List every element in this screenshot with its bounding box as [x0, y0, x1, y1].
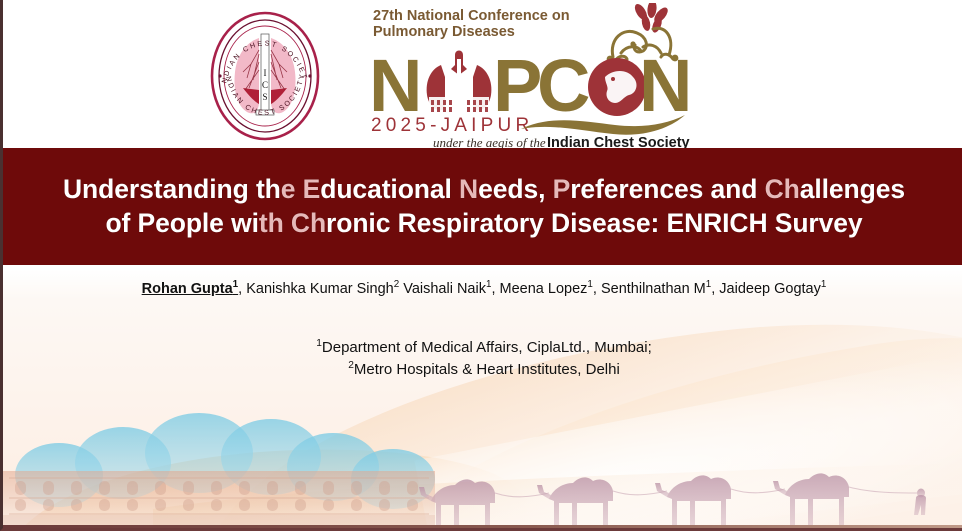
title-segment: [284, 208, 291, 238]
author-separator: ,: [593, 281, 601, 297]
title-segment: allenges: [800, 174, 905, 204]
affiliation-marker: 2: [348, 360, 354, 371]
napcon-letter-C: C: [537, 44, 590, 127]
author-list: Rohan Gupta1, Kanishka Kumar Singh2 Vais…: [3, 279, 962, 297]
presenting-author: Rohan Gupta1: [142, 281, 239, 297]
logo-row: I C S INDIAN CHEST SOCIETY INDIAN CHEST …: [209, 4, 749, 148]
indian-chest-society-logo: I C S INDIAN CHEST SOCIETY INDIAN CHEST …: [209, 10, 321, 142]
affiliation-marker: 1: [316, 338, 322, 349]
napcon-tagline-line2: Pulmonary Diseases: [373, 24, 515, 40]
napcon-year-city: 2025-JAIPUR: [371, 115, 533, 136]
napcon-letter-N2: N: [639, 44, 692, 127]
title-segment: e E: [281, 174, 320, 204]
author-name: Meena Lopez1: [500, 281, 593, 297]
napcon-letter-O-emblem: [588, 58, 646, 116]
author-name: Vaishali Naik1: [403, 281, 491, 297]
napcon-aegis-prefix: under the aegis of the: [433, 135, 546, 149]
author-separator: ,: [238, 281, 246, 297]
title-segment: N: [459, 174, 478, 204]
title-segment: th: [259, 208, 284, 238]
author-separator: ,: [491, 281, 499, 297]
napcon-tagline-line1: 27th National Conference on: [373, 8, 570, 24]
ics-monogram-c: C: [262, 80, 268, 90]
title-segment: eeds,: [478, 174, 553, 204]
affiliation-item: 1Department of Medical Affairs, CiplaLtd…: [3, 337, 962, 359]
affiliation-item: 2Metro Hospitals & Heart Institutes, Del…: [3, 359, 962, 381]
title-line-2: of People with Chronic Respiratory Disea…: [105, 207, 862, 241]
title-segment: of People wi: [105, 208, 258, 238]
title-segment: Ch: [765, 174, 800, 204]
title-segment: ronic Respiratory Disease: ENRICH Survey: [326, 208, 863, 238]
presentation-title-banner: Understanding the Educational Needs, Pre…: [3, 148, 962, 265]
conference-title-slide: I C S INDIAN CHEST SOCIETY INDIAN CHEST …: [0, 0, 962, 531]
author-name: Senthilnathan M1: [601, 281, 711, 297]
title-segment: P: [553, 174, 571, 204]
title-segment: Understanding th: [63, 174, 281, 204]
affiliation-list: 1Department of Medical Affairs, CiplaLtd…: [3, 337, 962, 381]
author-name: Kanishka Kumar Singh2: [246, 281, 399, 297]
title-line-1: Understanding the Educational Needs, Pre…: [63, 173, 905, 207]
affiliation-marker: 1: [821, 279, 826, 290]
napcon-letter-A-lungs: [427, 51, 492, 114]
ics-monogram-s: S: [262, 92, 267, 102]
napcon-2025-logo: 27th National Conference on Pulmonary Di…: [369, 3, 705, 149]
author-name: Jaideep Gogtay1: [719, 281, 826, 297]
title-segment: Ch: [291, 208, 326, 238]
title-segment: ducational: [320, 174, 459, 204]
ics-monogram-i: I: [264, 68, 267, 78]
title-segment: references and: [570, 174, 764, 204]
slide-header: I C S INDIAN CHEST SOCIETY INDIAN CHEST …: [3, 0, 962, 148]
slide-bottom-rule: [3, 525, 962, 528]
napcon-aegis-society: Indian Chest Society: [547, 135, 690, 149]
